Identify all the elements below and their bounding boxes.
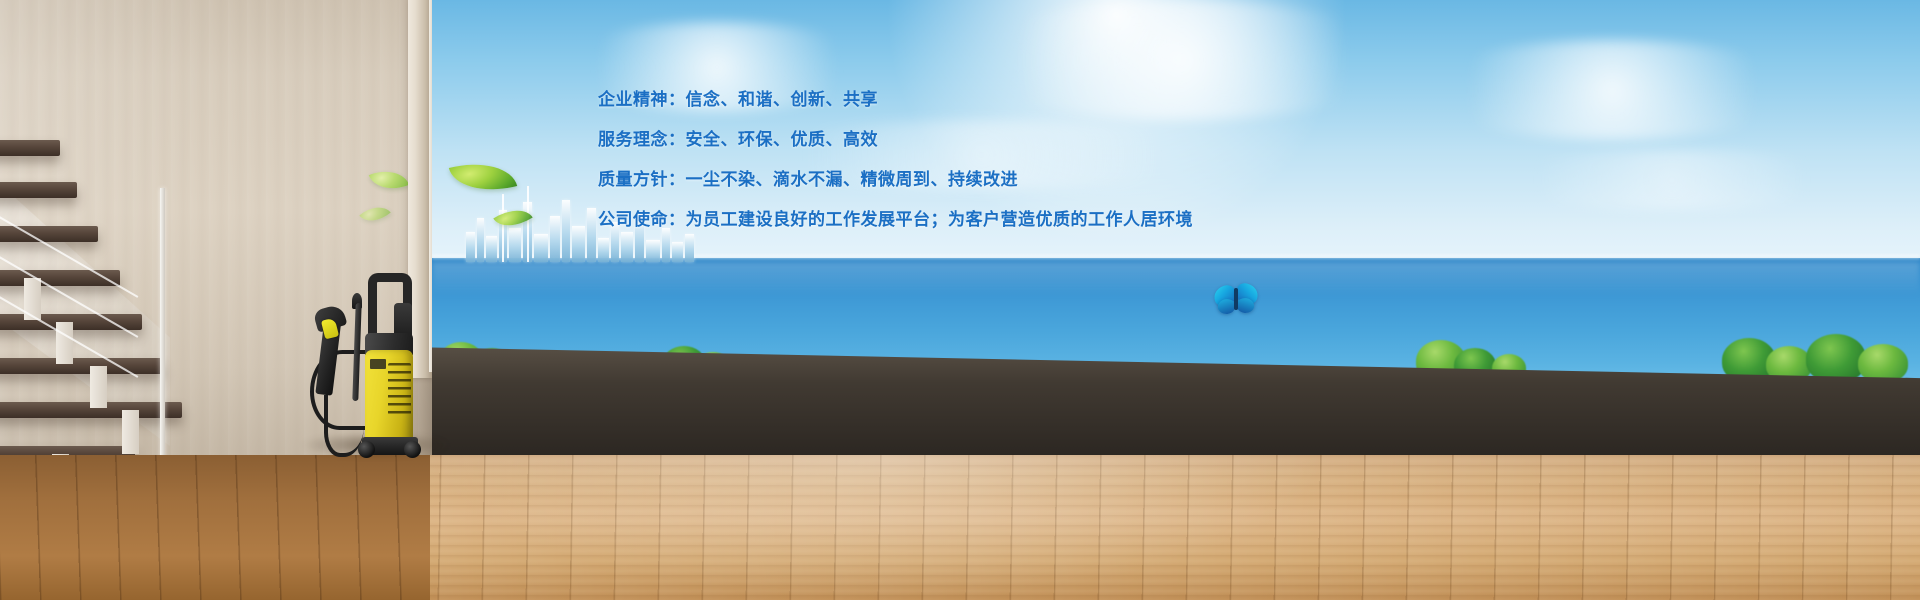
tree [1858, 344, 1908, 380]
stair-step [0, 140, 60, 156]
floating-staircase [0, 140, 215, 500]
washer-wheel [358, 441, 375, 458]
high-pressure-washer [310, 255, 440, 460]
building-spire [527, 186, 529, 262]
building [477, 218, 484, 262]
slogan-line-mission: 公司使命：为员工建设良好的工作发展平台；为客户营造优质的工作人居环境 [598, 212, 1358, 229]
building [685, 234, 694, 262]
stair-riser [122, 410, 139, 454]
building [587, 208, 596, 262]
slogan-block: 企业精神：信念、和谐、创新、共享 服务理念：安全、环保、优质、高效 质量方针：一… [598, 92, 1358, 229]
building [562, 200, 570, 262]
building [621, 232, 633, 262]
stair-step [0, 358, 163, 374]
slogan-line-service: 服务理念：安全、环保、优质、高效 [598, 132, 1358, 149]
building [509, 228, 521, 262]
cloud [1482, 150, 1862, 210]
railing-post [160, 188, 165, 500]
slogan-line-spirit: 企业精神：信念、和谐、创新、共享 [598, 92, 1358, 109]
building [672, 242, 683, 262]
washer-wheel [404, 441, 421, 458]
slogan-line-quality: 质量方针：一尘不染、滴水不漏、精微周到、持续改进 [598, 172, 1358, 189]
building [550, 216, 560, 262]
building [662, 228, 670, 262]
stair-step [0, 182, 77, 198]
cloud [1412, 40, 1812, 140]
building [486, 236, 497, 262]
wood-floor-left [0, 455, 430, 600]
tree [1806, 334, 1866, 380]
banner-stage: 企业精神：信念、和谐、创新、共享 服务理念：安全、环保、优质、高效 质量方针：一… [0, 0, 1920, 600]
butterfly-body [1234, 288, 1238, 310]
building [466, 232, 475, 262]
building [572, 226, 585, 262]
blue-butterfly [1214, 284, 1258, 320]
building-spire [502, 194, 504, 262]
stair-step [0, 226, 98, 242]
building [598, 238, 609, 262]
washer-label [370, 359, 386, 369]
sea-glint [432, 262, 1920, 296]
building [646, 240, 660, 262]
stair-riser [90, 366, 107, 408]
stair-riser [56, 322, 73, 364]
floor-sheen [430, 455, 1330, 600]
washer-vents [388, 363, 411, 415]
building [534, 234, 548, 262]
